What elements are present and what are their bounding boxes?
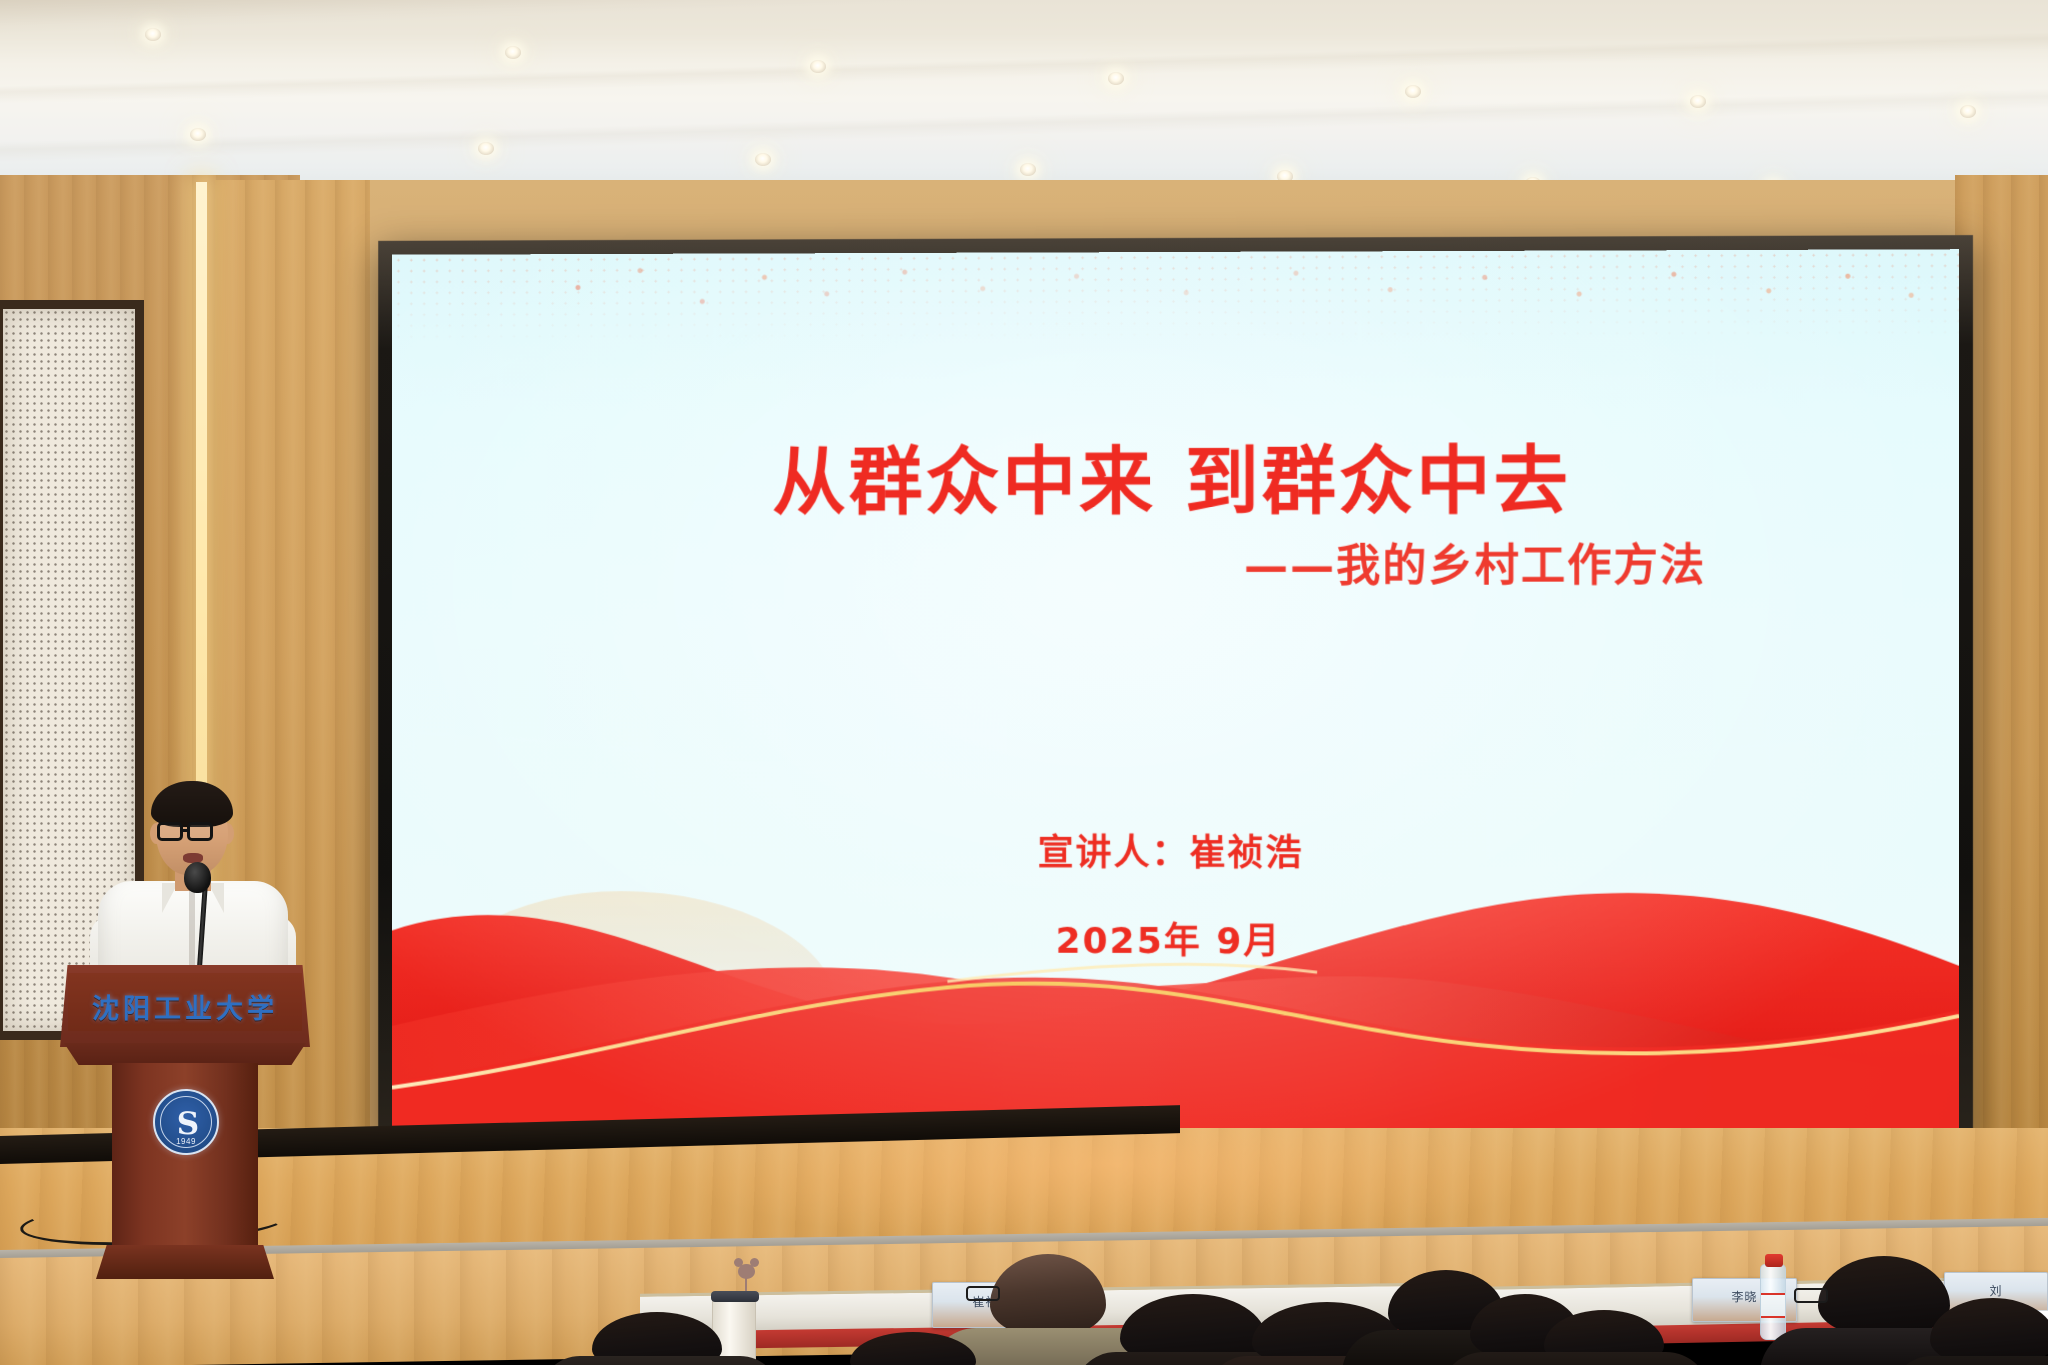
eyeglasses-icon <box>187 822 213 841</box>
presenter-group: 宣讲人：崔祯浩 2025年 9月 <box>1038 824 1304 964</box>
podium-lip <box>64 1043 306 1065</box>
placard-text: 刘 <box>1945 1282 2047 1299</box>
university-emblem-icon: S 1949 <box>153 1089 219 1155</box>
ceiling-spotlight <box>1020 163 1036 176</box>
ceiling-spotlight <box>1960 105 1976 118</box>
podium-institution-name: 沈阳工业大学 <box>68 987 302 1026</box>
speaker-hair <box>151 781 233 827</box>
ceiling <box>0 0 2048 190</box>
audience-foreground: 崔祯浩 李晓 刘 <box>0 1236 2048 1365</box>
water-bottle <box>1760 1264 1786 1340</box>
ceiling-spotlight <box>755 153 771 166</box>
led-screen[interactable]: 从群众中来 到群众中去 ——我的乡村工作方法 宣讲人：崔祯浩 2025年 9月 <box>392 249 1959 1135</box>
ceiling-spotlight <box>145 28 161 41</box>
audience-shoulder <box>540 1356 780 1365</box>
podium-front-face: 沈阳工业大学 <box>68 973 302 1031</box>
eyeglasses-icon <box>157 822 183 841</box>
bottle-cap <box>1765 1254 1783 1267</box>
eyeglasses-icon <box>1794 1288 1828 1303</box>
ceiling-spotlight <box>505 46 521 59</box>
slide-presenter-block: 宣讲人：崔祯浩 2025年 9月 <box>392 823 1959 966</box>
ceiling-spotlight <box>1690 95 1706 108</box>
confetti-speckles-fine <box>392 249 1959 349</box>
audience-head <box>990 1254 1106 1336</box>
lecture-hall-scene: 从群众中来 到群众中去 ——我的乡村工作方法 宣讲人：崔祯浩 2025年 9月 <box>0 0 2048 1365</box>
ceiling-spotlight <box>190 128 206 141</box>
audience-head <box>1818 1256 1950 1336</box>
mickey-mouse-icon <box>738 1264 755 1279</box>
tumbler-lid <box>711 1291 759 1302</box>
emblem-year: 1949 <box>155 1137 217 1146</box>
presenter-name: 宣讲人：崔祯浩 <box>1038 824 1304 876</box>
ceiling-spotlight <box>810 60 826 73</box>
emblem-glyph: S <box>176 1107 200 1141</box>
eyeglasses-icon <box>966 1286 1000 1301</box>
ceiling-spotlight <box>1405 85 1421 98</box>
audience-shoulder <box>1440 1352 1710 1365</box>
bottle-label <box>1761 1293 1785 1318</box>
ceiling-spotlight <box>1108 72 1124 85</box>
ceiling-bands <box>0 0 2048 190</box>
microphone-icon <box>184 862 211 893</box>
slide-title: 从群众中来 到群众中去 <box>392 420 1959 530</box>
slide-subtitle: ——我的乡村工作方法 <box>1244 529 1706 594</box>
presentation-date: 2025年 9月 <box>1056 912 1304 964</box>
eyeglasses-bridge <box>183 829 189 832</box>
ceiling-spotlight <box>478 142 494 155</box>
